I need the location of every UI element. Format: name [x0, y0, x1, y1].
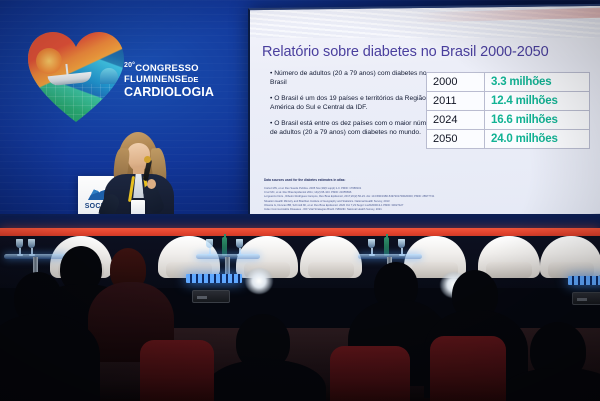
list-item: Número de adultos (20 a 79 anos) com dia…	[270, 70, 438, 88]
audience-seat-back	[430, 336, 506, 401]
presentation-screen: Relatório sobre diabetes no Brasil 2000-…	[248, 4, 600, 218]
av-equipment-box	[192, 290, 230, 303]
logo-line3: CARDIOLOGIA	[124, 85, 214, 99]
table-cell-year: 2050	[427, 129, 485, 148]
slide-title: Relatório sobre diabetes no Brasil 2000-…	[262, 44, 600, 60]
list-item: O Brasil é um dos 19 países e território…	[270, 95, 438, 113]
diabetes-projection-table: 2000 3.3 milhões 2011 12.4 milhões 2024 …	[426, 72, 590, 149]
mosaic-grid-graphic	[28, 84, 124, 124]
table-row: 2000 3.3 milhões	[427, 72, 590, 91]
heart-logo-icon	[28, 32, 124, 124]
table-cell-year: 2024	[427, 110, 485, 129]
sun-graphic	[36, 48, 62, 74]
list-item: O Brasil está entre os dez países com o …	[270, 120, 438, 138]
conference-stage-scene: 20°CONGRESSO FLUMINENSEDE CARDIOLOGIA Re…	[0, 0, 600, 401]
table-cell-value: 24.0 milhões	[485, 129, 590, 148]
led-light-bar	[186, 274, 242, 283]
table-cell-year: 2000	[427, 72, 485, 91]
audience-seat-back	[330, 346, 410, 401]
audience-foreground	[0, 236, 600, 401]
table-cell-year: 2011	[427, 91, 485, 110]
table-cell-value: 12.4 milhões	[485, 91, 590, 110]
stage-spotlight	[245, 268, 273, 294]
led-light-bar	[568, 276, 600, 285]
building-graphic	[100, 68, 118, 84]
logo-line1: CONGRESSO	[135, 63, 199, 74]
table-cell-value: 3.3 milhões	[485, 72, 590, 91]
screen-glare	[250, 8, 600, 38]
audience-shoulders	[0, 314, 100, 401]
speaker-hand-right	[147, 179, 156, 189]
footnote-references: Cortez MN, et al. Rev Saude Publica. 200…	[264, 187, 564, 212]
table-row: 2024 16.6 milhões	[427, 110, 590, 129]
logo-line2-suffix: DE	[188, 75, 199, 84]
av-equipment-box	[572, 292, 600, 305]
footnote-line: Index Communicable Diseases - IDF Vital …	[264, 208, 564, 212]
table-row: 2011 12.4 milhões	[427, 91, 590, 110]
slide-bullet-list: Número de adultos (20 a 79 anos) com dia…	[270, 70, 438, 144]
footnote-heading: Data sources used for the diabetes estim…	[264, 178, 434, 182]
event-logo: 20°CONGRESSO FLUMINENSEDE CARDIOLOGIA	[24, 28, 196, 136]
table-row: 2050 24.0 milhões	[427, 129, 590, 148]
screen-glare-streak	[414, 7, 600, 22]
microphone-head	[144, 156, 151, 163]
table-cell-value: 16.6 milhões	[485, 110, 590, 129]
event-logo-text: 20°CONGRESSO FLUMINENSEDE CARDIOLOGIA	[124, 62, 200, 98]
logo-line2: FLUMINENSE	[124, 74, 188, 85]
logo-edition: 20°	[124, 62, 135, 69]
audience-seat-back	[140, 340, 214, 401]
